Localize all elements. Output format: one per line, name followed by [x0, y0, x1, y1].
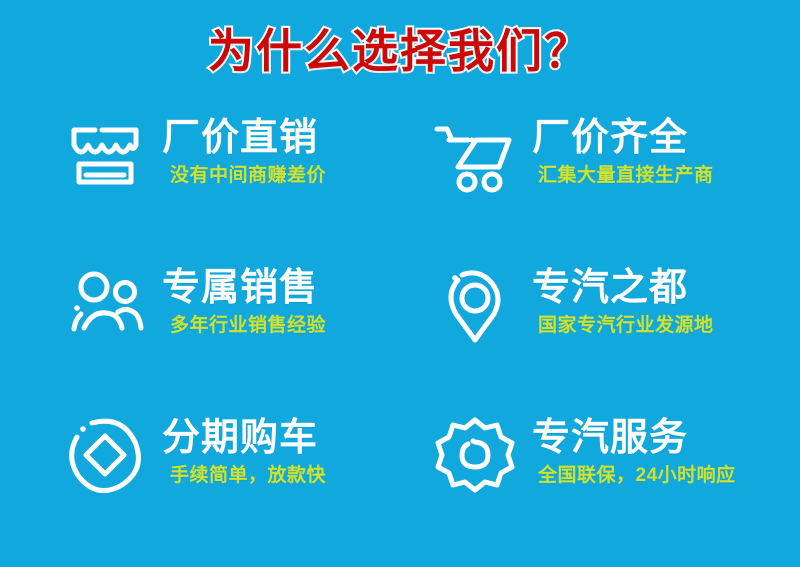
feature-subtitle: 多年行业销售经验 — [170, 313, 326, 339]
shopping-cart-icon — [432, 112, 518, 198]
feature-item-special-vehicle-city: 专汽之都 国家专汽行业发源地 — [400, 260, 800, 410]
feature-subtitle: 手续简单，放款快 — [170, 463, 326, 489]
feature-text: 专属销售 多年行业销售经验 — [162, 260, 326, 339]
feature-text: 厂价直销 没有中间商赚差价 — [162, 110, 326, 189]
feature-subtitle: 国家专汽行业发源地 — [538, 313, 714, 339]
feature-item-factory-direct: 厂价直销 没有中间商赚差价 — [0, 110, 400, 260]
feature-heading: 专汽之都 — [532, 266, 714, 310]
title-container: 为什么选择我们？ — [0, 20, 800, 82]
location-pin-icon — [432, 262, 518, 348]
feature-text: 专汽服务 全国联保，24小时响应 — [532, 410, 736, 489]
feature-subtitle: 全国联保，24小时响应 — [538, 463, 736, 489]
page-title: 为什么选择我们？ — [208, 20, 592, 82]
feature-subtitle: 没有中间商赚差价 — [170, 163, 326, 189]
feature-text: 厂价齐全 汇集大量直接生产商 — [532, 110, 714, 189]
feature-item-full-range: 厂价齐全 汇集大量直接生产商 — [400, 110, 800, 260]
feature-item-dedicated-sales: 专属销售 多年行业销售经验 — [0, 260, 400, 410]
shop-icon — [62, 112, 148, 198]
feature-item-installment: 分期购车 手续简单，放款快 — [0, 410, 400, 560]
feature-heading: 专属销售 — [162, 266, 326, 310]
feature-heading: 厂价齐全 — [532, 116, 714, 160]
feature-heading: 分期购车 — [162, 416, 326, 460]
feature-text: 分期购车 手续简单，放款快 — [162, 410, 326, 489]
feature-heading: 专汽服务 — [532, 416, 736, 460]
feature-item-service: 专汽服务 全国联保，24小时响应 — [400, 410, 800, 560]
promo-banner: 为什么选择我们？ 厂价直销 没有中间商赚差价 — [0, 0, 800, 567]
feature-text: 专汽之都 国家专汽行业发源地 — [532, 260, 714, 339]
feature-heading: 厂价直销 — [162, 116, 326, 160]
gear-icon — [432, 412, 518, 498]
feature-subtitle: 汇集大量直接生产商 — [538, 163, 714, 189]
people-icon — [62, 262, 148, 348]
coin-diamond-icon — [62, 412, 148, 498]
features-grid: 厂价直销 没有中间商赚差价 厂价齐全 汇集大量直接生产商 — [0, 110, 800, 530]
